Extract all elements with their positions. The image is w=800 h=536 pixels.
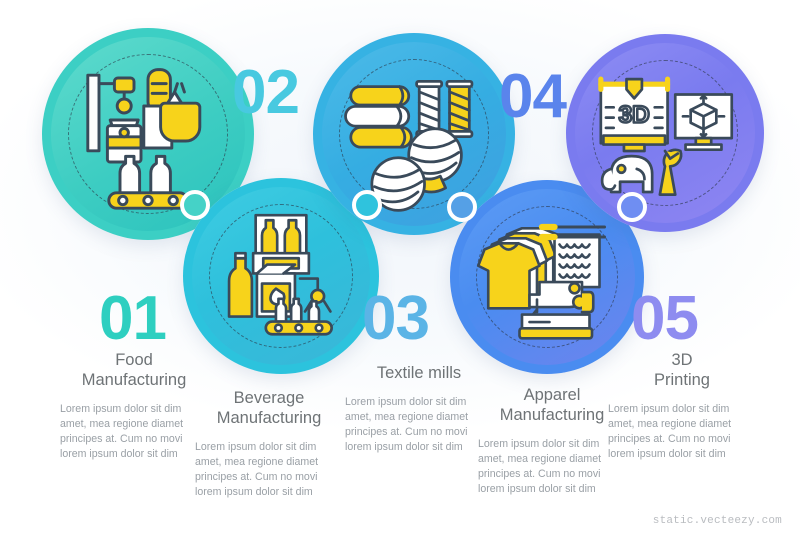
step-body-textile-mills: Lorem ipsum dolor sit dim amet, mea regi… bbox=[345, 395, 493, 455]
step-title-3d-printing: 3D Printing bbox=[608, 350, 756, 390]
connector-node-1 bbox=[180, 190, 210, 220]
food-manufacturing-icon bbox=[64, 50, 232, 218]
connector-node-4 bbox=[617, 192, 647, 222]
step-number-05: 05 bbox=[631, 288, 698, 350]
step-title-apparel-manufacturing: Apparel Manufacturing bbox=[478, 385, 626, 425]
step-text-block-apparel-manufacturing: Apparel Manufacturing Lorem ipsum dolor … bbox=[478, 385, 626, 497]
textile-mills-icon bbox=[335, 55, 493, 213]
step-title-textile-mills: Textile mills bbox=[345, 363, 493, 383]
step-body-apparel-manufacturing: Lorem ipsum dolor sit dim amet, mea regi… bbox=[478, 437, 626, 497]
step-title-food-manufacturing: Food Manufacturing bbox=[60, 350, 208, 390]
connector-node-3 bbox=[447, 192, 477, 222]
step-title-beverage-manufacturing: Beverage Manufacturing bbox=[195, 388, 343, 428]
step-body-beverage-manufacturing: Lorem ipsum dolor sit dim amet, mea regi… bbox=[195, 440, 343, 500]
step-text-block-beverage-manufacturing: Beverage Manufacturing Lorem ipsum dolor… bbox=[195, 388, 343, 500]
svg-text:3D: 3D bbox=[619, 102, 650, 129]
step-text-block-textile-mills: Textile mills Lorem ipsum dolor sit dim … bbox=[345, 363, 493, 455]
apparel-manufacturing-icon bbox=[472, 202, 622, 352]
step-text-block-food-manufacturing: Food Manufacturing Lorem ipsum dolor sit… bbox=[60, 350, 208, 462]
3d-printing-icon: 3D bbox=[588, 56, 742, 210]
step-number-02: 02 bbox=[232, 62, 299, 124]
beverage-manufacturing-icon bbox=[205, 200, 357, 352]
step-number-01: 01 bbox=[99, 288, 166, 350]
step-number-04: 04 bbox=[499, 66, 566, 128]
step-body-food-manufacturing: Lorem ipsum dolor sit dim amet, mea regi… bbox=[60, 402, 208, 462]
step-number-03: 03 bbox=[362, 288, 429, 350]
step-body-3d-printing: Lorem ipsum dolor sit dim amet, mea regi… bbox=[608, 402, 756, 462]
connector-node-2 bbox=[352, 190, 382, 220]
infographic-canvas: 3D bbox=[0, 0, 800, 536]
step-circle-3d-printing[interactable]: 3D bbox=[566, 34, 764, 232]
watermark: static.vecteezy.com bbox=[653, 515, 782, 527]
step-text-block-3d-printing: 3D Printing Lorem ipsum dolor sit dim am… bbox=[608, 350, 756, 462]
